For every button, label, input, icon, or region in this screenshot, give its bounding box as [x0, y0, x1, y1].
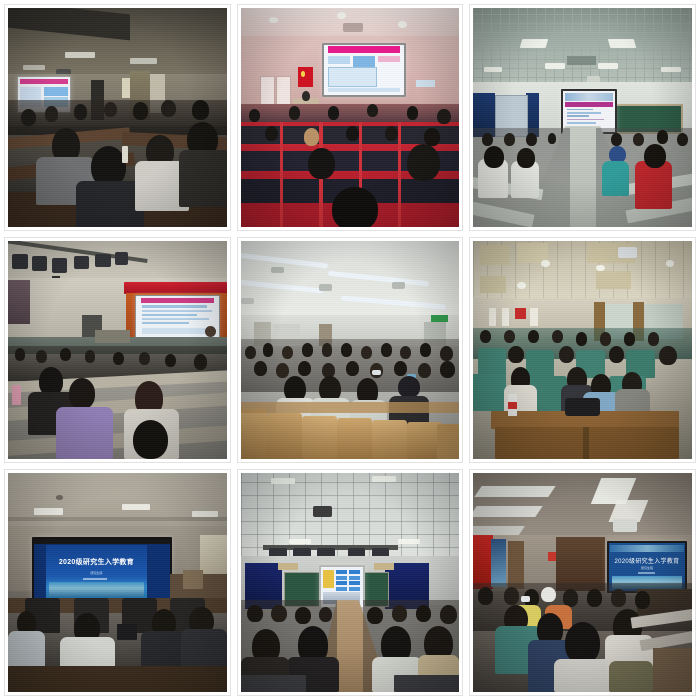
head — [440, 605, 457, 625]
head — [322, 343, 333, 356]
ceiling-light — [372, 476, 396, 483]
screen-line — [567, 122, 596, 124]
head-foreground — [407, 144, 440, 181]
ceiling-cove-1 — [474, 486, 556, 497]
photo-image-bottom-left: Meeting room with a large LED video wall… — [8, 473, 227, 692]
screen-grid-cell — [349, 587, 361, 591]
head — [60, 348, 71, 361]
photo-image-middle-right: Lecture room with teal-green upholstered… — [473, 241, 692, 460]
ceiling-grid — [473, 8, 692, 87]
head — [416, 605, 431, 622]
head — [341, 343, 352, 356]
ceiling-light-4 — [598, 63, 618, 70]
projector — [313, 506, 333, 517]
mask-white — [521, 596, 530, 603]
ceiling-downlight — [517, 282, 526, 289]
wood-seat — [267, 413, 302, 459]
screen-line — [567, 115, 589, 117]
stage-curtain — [8, 280, 30, 324]
screen-line — [142, 322, 189, 324]
ceiling-light-6 — [661, 67, 681, 72]
screen-col-right — [378, 56, 401, 62]
head — [648, 332, 659, 345]
wall-emblem — [515, 308, 526, 319]
head — [295, 607, 310, 624]
desk-row-right — [394, 675, 460, 692]
seat-row-back — [241, 402, 460, 413]
head — [289, 106, 300, 119]
head — [677, 133, 688, 146]
head — [394, 361, 407, 376]
head-foreground — [133, 420, 168, 459]
screen-grid-cell — [336, 581, 348, 585]
screen-line — [142, 310, 212, 312]
lectern — [183, 570, 203, 590]
screen-grid-cell — [349, 570, 361, 574]
ceiling-light-2 — [122, 504, 150, 511]
ceiling-vent — [567, 56, 595, 65]
screen-title-bar — [20, 79, 68, 84]
photo-image-bottom-center: Classroom with dark blue curtains, green… — [241, 473, 460, 692]
head — [611, 133, 622, 146]
head — [526, 133, 537, 146]
led-bezel-strip — [34, 539, 170, 545]
head — [482, 133, 493, 146]
wall-poster — [122, 78, 131, 98]
head — [407, 106, 418, 119]
body-foreground — [76, 181, 144, 227]
head-foreground — [484, 146, 504, 168]
head — [480, 330, 491, 343]
head — [361, 346, 372, 359]
screen-content-right — [44, 87, 68, 96]
head — [611, 589, 626, 606]
screen-date-line — [83, 578, 107, 580]
head — [635, 591, 650, 608]
ceiling-fan — [271, 267, 284, 274]
screen-grid-cell — [349, 581, 361, 585]
head — [400, 346, 411, 359]
screen-subtitle-text: 研究生院 — [616, 566, 677, 570]
head — [249, 109, 260, 122]
ceiling-light-1 — [34, 508, 62, 515]
head — [45, 106, 58, 121]
head — [254, 361, 267, 376]
photo-tile-top-right[interactable]: Bright classroom with grid ceiling, blue… — [469, 4, 696, 231]
photo-tile-middle-center[interactable]: Wide flat classroom with rows of light w… — [237, 237, 464, 464]
screen-bottom-bar — [328, 88, 401, 92]
teal-seat-front — [473, 374, 506, 411]
exit-sign — [431, 315, 448, 322]
photo-image-top-left: Lecture hall with wooden bench seating, … — [8, 8, 227, 227]
backpack — [565, 398, 600, 415]
mask-white — [372, 370, 381, 375]
head — [192, 100, 209, 120]
stage-spotlight — [12, 254, 27, 269]
wall-sign — [416, 80, 436, 87]
screen-grid-cell — [336, 576, 348, 580]
head — [508, 346, 523, 363]
head — [367, 607, 382, 624]
ceiling-light — [271, 478, 295, 485]
teal-seat — [478, 348, 506, 376]
head — [271, 605, 286, 622]
head-blonde — [304, 128, 319, 145]
head — [85, 350, 96, 363]
head — [276, 363, 289, 378]
wall-sign — [548, 552, 557, 561]
desk-leg — [583, 427, 590, 460]
ceiling-light — [398, 539, 420, 544]
body-olive — [609, 661, 653, 692]
ceiling-cove-2 — [473, 506, 542, 517]
screen-line — [142, 314, 197, 316]
head-cap — [398, 376, 420, 398]
head — [194, 354, 207, 369]
ceiling-light-2 — [130, 58, 156, 64]
stage-spotlight — [74, 256, 89, 269]
monitor — [117, 624, 137, 639]
screen-title-text: 2020级研究生入学教育 — [612, 556, 682, 565]
head — [74, 104, 87, 119]
head — [385, 126, 398, 141]
screen-title-bar — [565, 102, 613, 107]
screen-line — [567, 112, 601, 114]
screen-line — [567, 109, 593, 111]
head — [161, 100, 176, 117]
photo-image-top-center: Auditorium with red-framed seats, audien… — [241, 8, 460, 227]
head — [633, 133, 644, 146]
body-purple — [56, 407, 113, 459]
head-presenter — [302, 91, 310, 101]
wall-plaque — [530, 308, 538, 325]
ceiling-downlight — [269, 17, 278, 24]
head — [36, 350, 47, 363]
acoustic-panel — [596, 271, 631, 288]
head — [600, 332, 611, 345]
wall-banner — [374, 563, 394, 570]
head — [265, 126, 278, 141]
ceiling-cove-3 — [473, 526, 524, 535]
head — [504, 330, 515, 343]
head — [418, 363, 431, 378]
screen-top-photo — [610, 545, 683, 553]
bottle-label — [508, 402, 517, 409]
acoustic-panel — [480, 276, 506, 293]
head — [440, 361, 455, 378]
screen-skyline-photo — [49, 582, 144, 597]
projector — [343, 23, 363, 32]
head — [424, 128, 439, 145]
water-bottle — [122, 146, 129, 163]
wood-seat — [302, 416, 337, 460]
acoustic-panel — [480, 245, 511, 265]
head — [328, 106, 339, 119]
screen-grid-cell — [336, 570, 348, 574]
projector — [618, 247, 638, 258]
body-red-shirt — [635, 161, 672, 209]
ceiling-downlight — [541, 260, 550, 267]
ceiling-light-3 — [545, 63, 565, 70]
screen-col-left — [328, 56, 351, 64]
seat-divider — [398, 122, 401, 227]
head — [504, 133, 515, 146]
body-foreground — [179, 150, 227, 207]
head — [420, 343, 431, 356]
screen-grid-cell — [349, 576, 361, 580]
wood-seat — [337, 418, 372, 460]
projector — [241, 298, 254, 305]
head — [133, 102, 148, 119]
photo-tile-top-center[interactable]: Auditorium with red-framed seats, audien… — [237, 4, 464, 231]
stage-front-panel — [95, 330, 130, 343]
wall-banner — [278, 563, 298, 570]
screen-left-panel — [323, 570, 334, 587]
ceiling-fan — [319, 284, 332, 291]
ceiling-beam — [8, 517, 227, 521]
head — [587, 589, 602, 606]
head — [609, 346, 624, 363]
head-foreground — [308, 148, 334, 179]
photo-tile-top-left[interactable]: Lecture hall with wooden bench seating, … — [4, 4, 231, 231]
desk-row-left — [241, 675, 307, 692]
ceiling — [8, 473, 227, 530]
head — [528, 330, 539, 343]
ceiling-downlight — [596, 265, 605, 272]
wall-plaque — [502, 308, 510, 325]
stage-spotlight — [115, 252, 128, 265]
conference-desk-front — [8, 666, 227, 692]
photo-tile-middle-right[interactable]: Lecture room with teal-green upholstered… — [469, 237, 696, 464]
head — [504, 587, 519, 604]
head — [263, 343, 274, 356]
head — [319, 607, 332, 622]
wood-seat — [241, 409, 267, 459]
screen-footer — [142, 328, 212, 334]
stage-spotlight — [95, 254, 110, 267]
wall-plaque — [489, 308, 497, 325]
screen-title-bar — [141, 298, 214, 302]
head — [104, 102, 117, 117]
water-bottle — [12, 385, 21, 405]
projector — [613, 519, 637, 532]
head — [559, 346, 574, 363]
head — [478, 587, 493, 604]
head — [21, 109, 36, 126]
photo-image-top-right: Bright classroom with grid ceiling, blue… — [473, 8, 692, 227]
head — [302, 343, 313, 356]
floor — [653, 648, 692, 692]
head-foreground — [69, 378, 95, 409]
screen-line — [142, 318, 208, 320]
chinese-flag — [298, 67, 313, 87]
seat-divider — [280, 122, 283, 227]
ceiling-light-3 — [23, 65, 45, 70]
stage-spotlight — [32, 256, 47, 271]
head — [346, 126, 359, 141]
ceiling-downlight — [337, 12, 346, 19]
head — [381, 343, 392, 356]
screen-grid-cell — [336, 587, 348, 591]
head — [659, 346, 676, 366]
ceiling-light-1 — [520, 39, 549, 48]
ceiling-downlight — [398, 21, 407, 28]
head — [437, 109, 450, 124]
wood-seat — [372, 420, 407, 459]
photo-image-middle-left: Large hall with stage, red ceremony bann… — [8, 241, 227, 460]
screen-line — [567, 119, 604, 121]
head — [576, 332, 587, 345]
wood-seat — [437, 424, 459, 459]
photo-grid: Lecture hall with wooden bench seating, … — [0, 0, 700, 700]
head — [113, 352, 124, 365]
head-foreground — [644, 144, 666, 168]
ceiling-light-3 — [192, 511, 218, 518]
ceiling-fan — [392, 282, 405, 289]
screen-date-line — [638, 572, 655, 574]
body-teal-shirt — [602, 161, 628, 196]
head — [624, 332, 635, 345]
ceiling-light-5 — [484, 67, 501, 72]
stage-spotlight — [52, 258, 67, 273]
head — [282, 346, 293, 359]
projection-screen — [322, 43, 407, 97]
photo-image-bottom-right: Seminar room with stepped ceiling lights… — [473, 473, 692, 692]
head — [657, 130, 668, 143]
head-foreground — [565, 622, 600, 664]
photo-grid-page: Lecture hall with wooden bench seating, … — [0, 0, 700, 700]
head-foreground — [517, 148, 534, 168]
screen-table — [328, 67, 378, 87]
screen-title-bar — [328, 46, 399, 53]
head — [440, 346, 453, 361]
screen-title-text: 2020级研究生入学教育 — [46, 557, 146, 567]
poster-left — [491, 539, 506, 587]
photo-tile-bottom-left[interactable]: Meeting room with a large LED video wall… — [4, 469, 231, 696]
screen-line — [142, 305, 207, 307]
ceiling-light-1 — [65, 52, 96, 59]
ceiling-light — [289, 539, 311, 544]
smoke-detector — [56, 495, 63, 499]
exit-sign — [205, 326, 216, 337]
photo-tile-middle-left[interactable]: Large hall with stage, red ceremony bann… — [4, 237, 231, 464]
head — [15, 348, 26, 361]
head-foreground — [332, 187, 378, 226]
head — [548, 133, 557, 144]
photo-image-middle-center: Wide flat classroom with rows of light w… — [241, 241, 460, 460]
ceiling-light-2 — [608, 39, 637, 48]
photo-tile-bottom-right[interactable]: Seminar room with stepped ceiling lights… — [469, 469, 696, 696]
screen-subtitle-text: 研究生院 — [46, 571, 146, 575]
head — [298, 361, 311, 376]
head — [245, 346, 256, 359]
screen-photo-strip — [565, 93, 613, 101]
head — [346, 361, 359, 376]
photo-tile-bottom-center[interactable]: Classroom with dark blue curtains, green… — [237, 469, 464, 696]
teal-seat — [526, 350, 554, 378]
led-video-wall: 2020级研究生入学教育 研究生院 — [32, 537, 172, 602]
head — [552, 330, 563, 343]
flag-star — [301, 71, 305, 76]
head — [139, 352, 150, 365]
head — [247, 605, 262, 622]
head — [392, 605, 407, 622]
